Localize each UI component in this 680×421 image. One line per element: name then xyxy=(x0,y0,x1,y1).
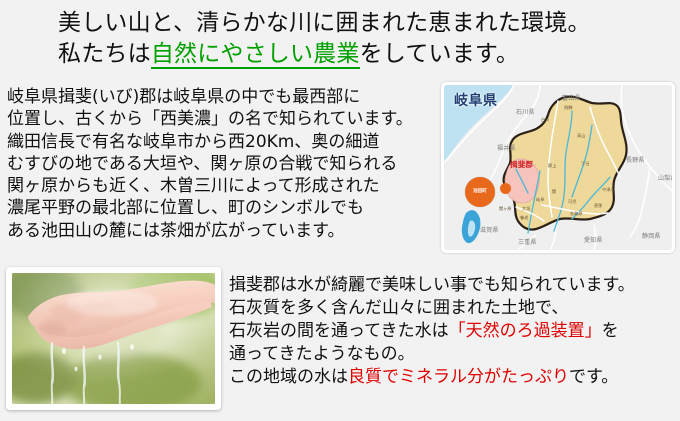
water-line-3-suffix: を xyxy=(602,321,619,341)
water-line-4: 通ってきたようなもの。 xyxy=(229,343,679,366)
map-label-fukui: 福井県 xyxy=(497,143,516,152)
map-label-toyama: 富山県 xyxy=(562,93,581,102)
headline-line-2-suffix: をしています。 xyxy=(360,41,519,67)
water-line-3-prefix: 石灰岩の間を通ってきた水は xyxy=(229,321,449,341)
map-city-gifu: 岐阜 xyxy=(536,197,544,203)
map-city-seki: 関 xyxy=(552,189,556,195)
intro-line: 織田信長で有名な岐阜市から西20Km、奥の細道 xyxy=(7,131,437,153)
headline-highlight: 自然にやさしい農業 xyxy=(151,41,360,69)
headline-line-2-prefix: 私たちは xyxy=(58,41,151,67)
water-highlight-mineral: 良質でミネラル分がたっぷり xyxy=(348,367,569,387)
map-region-label-ibi: 揖斐郡 xyxy=(510,159,533,170)
water-highlight-filter: 「天然のろ過装置」 xyxy=(449,321,602,341)
water-line-1: 揖斐郡は水が綺麗で美味しい事でも知られています。 xyxy=(229,274,679,297)
map-city-hida: 飛騨 xyxy=(564,105,572,111)
gifu-map-panel: 岐阜県 富山県 石川県 福井県 長野県 山梨県 滋賀県 三重県 愛知県 静岡県 … xyxy=(441,82,675,253)
map-city-ogaki: 大垣 xyxy=(522,206,530,212)
map-marker-ikeda: 池田町 xyxy=(465,177,495,207)
map-label-yamanashi: 山梨県 xyxy=(658,173,672,182)
map-city-sekigahara: 関ヶ原 xyxy=(499,206,512,212)
water-line-2: 石灰質を多く含んだ山々に囲まれた土地で、 xyxy=(229,297,679,320)
intro-paragraph: 岐阜県揖斐(いび)郡は岐阜県の中でも最西部に 位置し、古くから「西美濃」の名で知… xyxy=(7,86,437,242)
water-line-3: 石灰岩の間を通ってきた水は「天然のろ過装置」を xyxy=(229,320,679,343)
map-label-mie: 三重県 xyxy=(518,237,537,246)
headline-line-1: 美しい山と、清らかな川に囲まれた恵まれた環境。 xyxy=(58,8,658,39)
map-label-nagano: 長野県 xyxy=(626,155,645,164)
map-city-ena: 恵那 xyxy=(594,203,602,209)
map-label-shizuoka: 静岡県 xyxy=(642,231,661,240)
intro-line: 関ヶ原からも近く、木曽三川によって形成された xyxy=(7,175,437,197)
water-photo xyxy=(12,273,215,404)
intro-line: むすびの地である大垣や、関ヶ原の合戦で知られる xyxy=(7,153,437,175)
intro-line: ある池田山の麓には茶畑が広がっています。 xyxy=(7,220,437,242)
water-line-5-suffix: です。 xyxy=(569,367,618,387)
map-title: 岐阜県 xyxy=(454,90,498,110)
map-label-ishikawa: 石川県 xyxy=(516,107,535,116)
map-label-shiga: 滋賀県 xyxy=(480,225,499,234)
map-canvas: 岐阜県 富山県 石川県 福井県 長野県 山梨県 滋賀県 三重県 愛知県 静岡県 … xyxy=(444,85,672,250)
map-city-shirakawa: 白川 xyxy=(541,117,549,123)
map-city-nakatsugawa: 中津川 xyxy=(602,187,615,193)
intro-line: 位置し、古くから「西美濃」の名で知られています。 xyxy=(7,108,437,130)
map-city-yoro: 養老 xyxy=(520,215,528,221)
map-city-takayama: 高山 xyxy=(577,133,585,139)
promo-page: 美しい山と、清らかな川に囲まれた恵まれた環境。 私たちは自然にやさしい農業をして… xyxy=(0,0,680,421)
map-city-kani: 可児 xyxy=(568,199,576,205)
headline: 美しい山と、清らかな川に囲まれた恵まれた環境。 私たちは自然にやさしい農業をして… xyxy=(58,8,658,70)
map-city-gero: 下呂 xyxy=(581,161,589,167)
water-paragraph: 揖斐郡は水が綺麗で美味しい事でも知られています。 石灰質を多く含んだ山々に囲まれ… xyxy=(229,274,679,389)
map-city-kakamigahara: 各務原 xyxy=(570,211,583,217)
headline-line-2: 私たちは自然にやさしい農業をしています。 xyxy=(58,39,658,70)
hands-with-water-illustration xyxy=(12,273,215,404)
water-line-5: この地域の水は良質でミネラル分がたっぷりです。 xyxy=(229,366,679,389)
water-photo-frame xyxy=(6,267,221,410)
intro-line: 濃尾平野の最北部に位置し、町のシンボルでも xyxy=(7,197,437,219)
map-marker-dot xyxy=(500,183,511,194)
water-line-5-prefix: この地域の水は xyxy=(229,367,348,387)
intro-line: 岐阜県揖斐(いび)郡は岐阜県の中でも最西部に xyxy=(7,86,437,108)
map-city-gujo: 郡上 xyxy=(548,163,556,169)
map-label-aichi: 愛知県 xyxy=(584,235,603,244)
